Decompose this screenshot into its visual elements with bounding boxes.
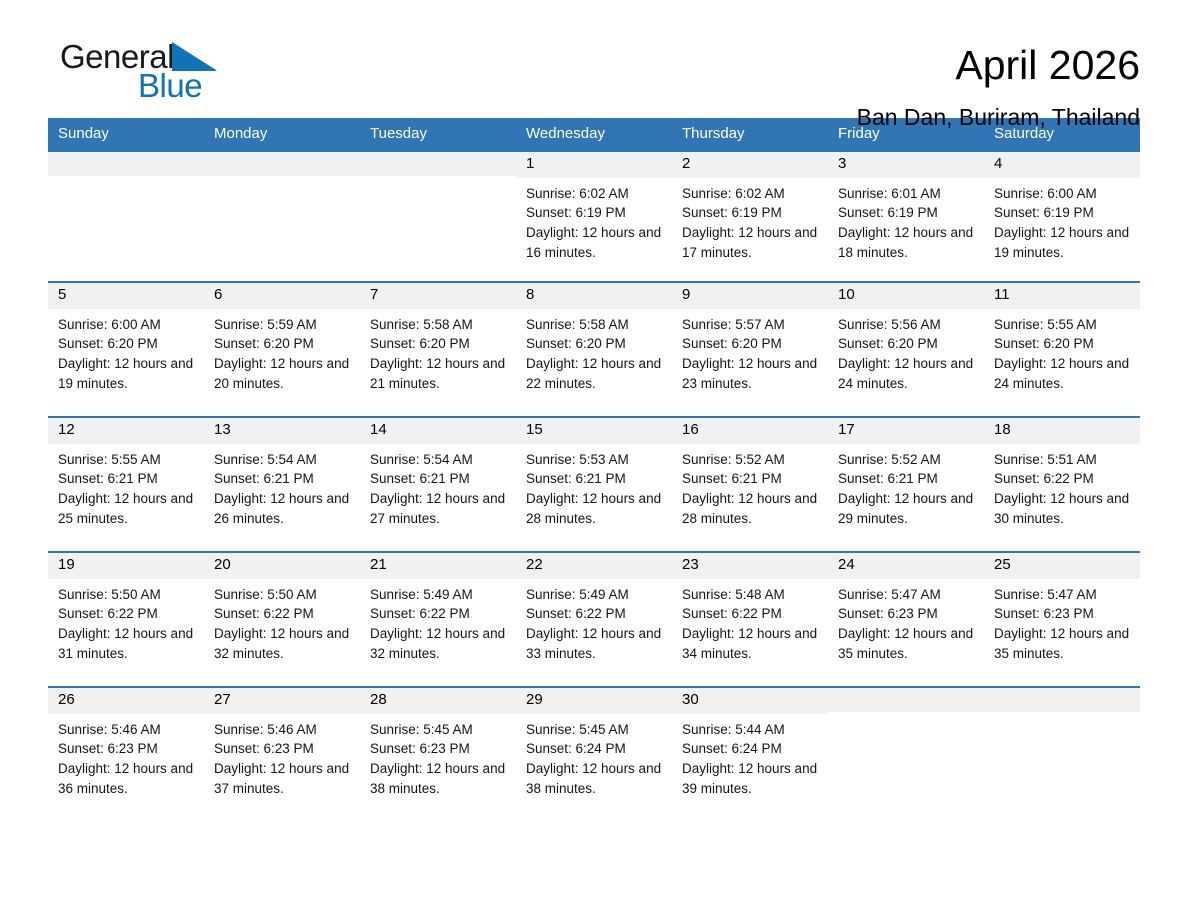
calendar-day-cell-empty: [828, 687, 984, 822]
sunrise-text: Sunrise: 5:46 AM: [214, 720, 352, 740]
day-number: 18: [984, 418, 1140, 444]
sunset-text: Sunset: 6:20 PM: [214, 334, 352, 354]
day-cell-inner: [984, 688, 1140, 822]
title-block: April 2026 Ban Dan, Buriram, Thailand: [857, 40, 1140, 130]
page-title: April 2026: [857, 44, 1140, 87]
daylight-text: Daylight: 12 hours and 36 minutes.: [58, 759, 196, 799]
calendar-day-cell[interactable]: 25Sunrise: 5:47 AMSunset: 6:23 PMDayligh…: [984, 552, 1140, 687]
daylight-text: Daylight: 12 hours and 35 minutes.: [994, 624, 1132, 664]
day-number: 15: [516, 418, 672, 444]
day-cell-inner: 12Sunrise: 5:55 AMSunset: 6:21 PMDayligh…: [48, 418, 204, 551]
day-number: 28: [360, 688, 516, 714]
day-cell-inner: 1Sunrise: 6:02 AMSunset: 6:19 PMDaylight…: [516, 152, 672, 281]
day-details: Sunrise: 5:44 AMSunset: 6:24 PMDaylight:…: [672, 714, 828, 799]
day-number: 12: [48, 418, 204, 444]
calendar-day-cell[interactable]: 26Sunrise: 5:46 AMSunset: 6:23 PMDayligh…: [48, 687, 204, 822]
calendar-day-cell-empty: [984, 687, 1140, 822]
day-cell-inner: 16Sunrise: 5:52 AMSunset: 6:21 PMDayligh…: [672, 418, 828, 551]
day-number: 3: [828, 152, 984, 178]
day-number: 7: [360, 283, 516, 309]
day-details: Sunrise: 6:01 AMSunset: 6:19 PMDaylight:…: [828, 178, 984, 263]
calendar-day-cell[interactable]: 21Sunrise: 5:49 AMSunset: 6:22 PMDayligh…: [360, 552, 516, 687]
sunrise-text: Sunrise: 5:57 AM: [682, 315, 820, 335]
calendar-day-cell[interactable]: 19Sunrise: 5:50 AMSunset: 6:22 PMDayligh…: [48, 552, 204, 687]
day-cell-inner: 27Sunrise: 5:46 AMSunset: 6:23 PMDayligh…: [204, 688, 360, 822]
weekday-header-sunday: Sunday: [48, 118, 204, 151]
day-number: 10: [828, 283, 984, 309]
calendar-day-cell[interactable]: 15Sunrise: 5:53 AMSunset: 6:21 PMDayligh…: [516, 417, 672, 552]
sunrise-text: Sunrise: 5:55 AM: [58, 450, 196, 470]
calendar-day-cell[interactable]: 9Sunrise: 5:57 AMSunset: 6:20 PMDaylight…: [672, 282, 828, 417]
sunset-text: Sunset: 6:22 PM: [682, 604, 820, 624]
calendar-week-row: 12Sunrise: 5:55 AMSunset: 6:21 PMDayligh…: [48, 417, 1140, 552]
day-cell-inner: 21Sunrise: 5:49 AMSunset: 6:22 PMDayligh…: [360, 553, 516, 686]
day-cell-inner: [360, 152, 516, 281]
day-number: 14: [360, 418, 516, 444]
calendar-day-cell[interactable]: 16Sunrise: 5:52 AMSunset: 6:21 PMDayligh…: [672, 417, 828, 552]
sunset-text: Sunset: 6:23 PM: [838, 604, 976, 624]
calendar-day-cell[interactable]: 27Sunrise: 5:46 AMSunset: 6:23 PMDayligh…: [204, 687, 360, 822]
day-details: Sunrise: 6:02 AMSunset: 6:19 PMDaylight:…: [672, 178, 828, 263]
sunset-text: Sunset: 6:21 PM: [58, 469, 196, 489]
sunset-text: Sunset: 6:21 PM: [682, 469, 820, 489]
day-cell-inner: 14Sunrise: 5:54 AMSunset: 6:21 PMDayligh…: [360, 418, 516, 551]
day-number: [984, 688, 1140, 712]
calendar-day-cell[interactable]: 18Sunrise: 5:51 AMSunset: 6:22 PMDayligh…: [984, 417, 1140, 552]
day-cell-inner: 5Sunrise: 6:00 AMSunset: 6:20 PMDaylight…: [48, 283, 204, 416]
daylight-text: Daylight: 12 hours and 18 minutes.: [838, 223, 976, 263]
daylight-text: Daylight: 12 hours and 16 minutes.: [526, 223, 664, 263]
sunset-text: Sunset: 6:22 PM: [214, 604, 352, 624]
daylight-text: Daylight: 12 hours and 26 minutes.: [214, 489, 352, 529]
calendar-week-row: 26Sunrise: 5:46 AMSunset: 6:23 PMDayligh…: [48, 687, 1140, 822]
day-cell-inner: 29Sunrise: 5:45 AMSunset: 6:24 PMDayligh…: [516, 688, 672, 822]
day-details: Sunrise: 5:53 AMSunset: 6:21 PMDaylight:…: [516, 444, 672, 529]
daylight-text: Daylight: 12 hours and 39 minutes.: [682, 759, 820, 799]
day-details: Sunrise: 5:50 AMSunset: 6:22 PMDaylight:…: [48, 579, 204, 664]
calendar-day-cell[interactable]: 30Sunrise: 5:44 AMSunset: 6:24 PMDayligh…: [672, 687, 828, 822]
day-number: 29: [516, 688, 672, 714]
day-number: 25: [984, 553, 1140, 579]
day-cell-inner: 6Sunrise: 5:59 AMSunset: 6:20 PMDaylight…: [204, 283, 360, 416]
calendar-day-cell[interactable]: 24Sunrise: 5:47 AMSunset: 6:23 PMDayligh…: [828, 552, 984, 687]
daylight-text: Daylight: 12 hours and 21 minutes.: [370, 354, 508, 394]
sunrise-text: Sunrise: 6:02 AM: [526, 184, 664, 204]
daylight-text: Daylight: 12 hours and 37 minutes.: [214, 759, 352, 799]
day-cell-inner: [828, 688, 984, 822]
sunrise-text: Sunrise: 5:44 AM: [682, 720, 820, 740]
sunset-text: Sunset: 6:23 PM: [214, 739, 352, 759]
daylight-text: Daylight: 12 hours and 20 minutes.: [214, 354, 352, 394]
sunset-text: Sunset: 6:22 PM: [58, 604, 196, 624]
day-details: Sunrise: 5:52 AMSunset: 6:21 PMDaylight:…: [672, 444, 828, 529]
calendar-day-cell[interactable]: 6Sunrise: 5:59 AMSunset: 6:20 PMDaylight…: [204, 282, 360, 417]
day-number: 19: [48, 553, 204, 579]
sunrise-text: Sunrise: 5:54 AM: [370, 450, 508, 470]
calendar-day-cell[interactable]: 10Sunrise: 5:56 AMSunset: 6:20 PMDayligh…: [828, 282, 984, 417]
sunset-text: Sunset: 6:19 PM: [838, 203, 976, 223]
daylight-text: Daylight: 12 hours and 24 minutes.: [838, 354, 976, 394]
day-details: Sunrise: 5:57 AMSunset: 6:20 PMDaylight:…: [672, 309, 828, 394]
calendar-day-cell[interactable]: 8Sunrise: 5:58 AMSunset: 6:20 PMDaylight…: [516, 282, 672, 417]
calendar-week-row: 5Sunrise: 6:00 AMSunset: 6:20 PMDaylight…: [48, 282, 1140, 417]
sunrise-text: Sunrise: 5:52 AM: [682, 450, 820, 470]
daylight-text: Daylight: 12 hours and 29 minutes.: [838, 489, 976, 529]
day-number: 2: [672, 152, 828, 178]
day-details: Sunrise: 6:00 AMSunset: 6:19 PMDaylight:…: [984, 178, 1140, 263]
sunrise-text: Sunrise: 6:00 AM: [994, 184, 1132, 204]
calendar-day-cell[interactable]: 2Sunrise: 6:02 AMSunset: 6:19 PMDaylight…: [672, 151, 828, 282]
day-cell-inner: 19Sunrise: 5:50 AMSunset: 6:22 PMDayligh…: [48, 553, 204, 686]
day-cell-inner: 10Sunrise: 5:56 AMSunset: 6:20 PMDayligh…: [828, 283, 984, 416]
day-number: 24: [828, 553, 984, 579]
sunset-text: Sunset: 6:21 PM: [370, 469, 508, 489]
daylight-text: Daylight: 12 hours and 17 minutes.: [682, 223, 820, 263]
daylight-text: Daylight: 12 hours and 27 minutes.: [370, 489, 508, 529]
day-number: 13: [204, 418, 360, 444]
day-details: Sunrise: 5:51 AMSunset: 6:22 PMDaylight:…: [984, 444, 1140, 529]
daylight-text: Daylight: 12 hours and 22 minutes.: [526, 354, 664, 394]
sunrise-text: Sunrise: 5:47 AM: [994, 585, 1132, 605]
page-masthead: General Blue April 2026 Ban Dan, Buriram…: [48, 0, 1140, 118]
sunrise-text: Sunrise: 5:46 AM: [58, 720, 196, 740]
day-cell-inner: 18Sunrise: 5:51 AMSunset: 6:22 PMDayligh…: [984, 418, 1140, 551]
sunset-text: Sunset: 6:23 PM: [58, 739, 196, 759]
day-cell-inner: 24Sunrise: 5:47 AMSunset: 6:23 PMDayligh…: [828, 553, 984, 686]
calendar-day-cell[interactable]: 12Sunrise: 5:55 AMSunset: 6:21 PMDayligh…: [48, 417, 204, 552]
sunset-text: Sunset: 6:21 PM: [526, 469, 664, 489]
day-details: Sunrise: 5:49 AMSunset: 6:22 PMDaylight:…: [516, 579, 672, 664]
sunrise-text: Sunrise: 5:50 AM: [214, 585, 352, 605]
calendar-day-cell[interactable]: 5Sunrise: 6:00 AMSunset: 6:20 PMDaylight…: [48, 282, 204, 417]
sunset-text: Sunset: 6:23 PM: [994, 604, 1132, 624]
day-details: Sunrise: 5:46 AMSunset: 6:23 PMDaylight:…: [204, 714, 360, 799]
sunset-text: Sunset: 6:22 PM: [994, 469, 1132, 489]
sunrise-text: Sunrise: 6:00 AM: [58, 315, 196, 335]
day-cell-inner: 7Sunrise: 5:58 AMSunset: 6:20 PMDaylight…: [360, 283, 516, 416]
sunset-text: Sunset: 6:21 PM: [214, 469, 352, 489]
calendar-day-cell[interactable]: 3Sunrise: 6:01 AMSunset: 6:19 PMDaylight…: [828, 151, 984, 282]
day-details: Sunrise: 5:46 AMSunset: 6:23 PMDaylight:…: [48, 714, 204, 799]
day-number: 23: [672, 553, 828, 579]
sunrise-text: Sunrise: 5:50 AM: [58, 585, 196, 605]
day-cell-inner: 13Sunrise: 5:54 AMSunset: 6:21 PMDayligh…: [204, 418, 360, 551]
day-number: 22: [516, 553, 672, 579]
day-number: 17: [828, 418, 984, 444]
day-cell-inner: 28Sunrise: 5:45 AMSunset: 6:23 PMDayligh…: [360, 688, 516, 822]
daylight-text: Daylight: 12 hours and 30 minutes.: [994, 489, 1132, 529]
sunset-text: Sunset: 6:19 PM: [526, 203, 664, 223]
day-number: 20: [204, 553, 360, 579]
weekday-header-tuesday: Tuesday: [360, 118, 516, 151]
day-number: 11: [984, 283, 1140, 309]
sunrise-text: Sunrise: 5:56 AM: [838, 315, 976, 335]
calendar-day-cell[interactable]: 7Sunrise: 5:58 AMSunset: 6:20 PMDaylight…: [360, 282, 516, 417]
calendar-day-cell[interactable]: 22Sunrise: 5:49 AMSunset: 6:22 PMDayligh…: [516, 552, 672, 687]
calendar-day-cell[interactable]: 14Sunrise: 5:54 AMSunset: 6:21 PMDayligh…: [360, 417, 516, 552]
day-details: Sunrise: 5:48 AMSunset: 6:22 PMDaylight:…: [672, 579, 828, 664]
sunrise-text: Sunrise: 5:55 AM: [994, 315, 1132, 335]
day-cell-inner: [48, 152, 204, 281]
day-cell-inner: 23Sunrise: 5:48 AMSunset: 6:22 PMDayligh…: [672, 553, 828, 686]
sunrise-text: Sunrise: 5:45 AM: [526, 720, 664, 740]
calendar-day-cell[interactable]: 29Sunrise: 5:45 AMSunset: 6:24 PMDayligh…: [516, 687, 672, 822]
sunrise-text: Sunrise: 5:58 AM: [526, 315, 664, 335]
sunset-text: Sunset: 6:19 PM: [994, 203, 1132, 223]
day-cell-inner: 3Sunrise: 6:01 AMSunset: 6:19 PMDaylight…: [828, 152, 984, 281]
day-number: 30: [672, 688, 828, 714]
calendar-day-cell[interactable]: 17Sunrise: 5:52 AMSunset: 6:21 PMDayligh…: [828, 417, 984, 552]
sunrise-text: Sunrise: 5:54 AM: [214, 450, 352, 470]
daylight-text: Daylight: 12 hours and 28 minutes.: [682, 489, 820, 529]
calendar-day-cell-empty: [360, 151, 516, 282]
day-details: Sunrise: 5:49 AMSunset: 6:22 PMDaylight:…: [360, 579, 516, 664]
day-number: 5: [48, 283, 204, 309]
day-details: Sunrise: 5:50 AMSunset: 6:22 PMDaylight:…: [204, 579, 360, 664]
day-details: Sunrise: 5:59 AMSunset: 6:20 PMDaylight:…: [204, 309, 360, 394]
day-number: [204, 152, 360, 176]
logo-text-blue: Blue: [138, 69, 248, 102]
day-cell-inner: 2Sunrise: 6:02 AMSunset: 6:19 PMDaylight…: [672, 152, 828, 281]
day-details: Sunrise: 5:52 AMSunset: 6:21 PMDaylight:…: [828, 444, 984, 529]
day-number: 6: [204, 283, 360, 309]
sunrise-text: Sunrise: 6:02 AM: [682, 184, 820, 204]
sunset-text: Sunset: 6:20 PM: [682, 334, 820, 354]
sunrise-text: Sunrise: 5:49 AM: [526, 585, 664, 605]
daylight-text: Daylight: 12 hours and 19 minutes.: [994, 223, 1132, 263]
calendar-day-cell[interactable]: 11Sunrise: 5:55 AMSunset: 6:20 PMDayligh…: [984, 282, 1140, 417]
sunrise-text: Sunrise: 5:51 AM: [994, 450, 1132, 470]
calendar-day-cell[interactable]: 20Sunrise: 5:50 AMSunset: 6:22 PMDayligh…: [204, 552, 360, 687]
day-details: Sunrise: 5:45 AMSunset: 6:24 PMDaylight:…: [516, 714, 672, 799]
sunset-text: Sunset: 6:19 PM: [682, 203, 820, 223]
sunset-text: Sunset: 6:20 PM: [370, 334, 508, 354]
calendar-week-row: 19Sunrise: 5:50 AMSunset: 6:22 PMDayligh…: [48, 552, 1140, 687]
day-details: Sunrise: 5:54 AMSunset: 6:21 PMDaylight:…: [360, 444, 516, 529]
sunset-text: Sunset: 6:20 PM: [838, 334, 976, 354]
day-number: [360, 152, 516, 176]
sunset-text: Sunset: 6:24 PM: [682, 739, 820, 759]
month-calendar-table: SundayMondayTuesdayWednesdayThursdayFrid…: [48, 118, 1140, 822]
sunset-text: Sunset: 6:23 PM: [370, 739, 508, 759]
daylight-text: Daylight: 12 hours and 32 minutes.: [370, 624, 508, 664]
sunset-text: Sunset: 6:22 PM: [526, 604, 664, 624]
daylight-text: Daylight: 12 hours and 19 minutes.: [58, 354, 196, 394]
daylight-text: Daylight: 12 hours and 28 minutes.: [526, 489, 664, 529]
sunrise-text: Sunrise: 5:45 AM: [370, 720, 508, 740]
generalblue-logo[interactable]: General Blue: [48, 40, 248, 112]
daylight-text: Daylight: 12 hours and 38 minutes.: [526, 759, 664, 799]
day-cell-inner: 25Sunrise: 5:47 AMSunset: 6:23 PMDayligh…: [984, 553, 1140, 686]
sunrise-text: Sunrise: 5:47 AM: [838, 585, 976, 605]
calendar-day-cell[interactable]: 23Sunrise: 5:48 AMSunset: 6:22 PMDayligh…: [672, 552, 828, 687]
day-cell-inner: [204, 152, 360, 281]
calendar-day-cell-empty: [204, 151, 360, 282]
day-number: 8: [516, 283, 672, 309]
day-number: 16: [672, 418, 828, 444]
day-cell-inner: 9Sunrise: 5:57 AMSunset: 6:20 PMDaylight…: [672, 283, 828, 416]
calendar-day-cell[interactable]: 13Sunrise: 5:54 AMSunset: 6:21 PMDayligh…: [204, 417, 360, 552]
daylight-text: Daylight: 12 hours and 33 minutes.: [526, 624, 664, 664]
day-number: 26: [48, 688, 204, 714]
day-cell-inner: 11Sunrise: 5:55 AMSunset: 6:20 PMDayligh…: [984, 283, 1140, 416]
day-number: 21: [360, 553, 516, 579]
day-cell-inner: 26Sunrise: 5:46 AMSunset: 6:23 PMDayligh…: [48, 688, 204, 822]
sunset-text: Sunset: 6:21 PM: [838, 469, 976, 489]
day-details: Sunrise: 5:55 AMSunset: 6:20 PMDaylight:…: [984, 309, 1140, 394]
calendar-page: General Blue April 2026 Ban Dan, Buriram…: [0, 0, 1188, 918]
day-number: 1: [516, 152, 672, 178]
day-cell-inner: 22Sunrise: 5:49 AMSunset: 6:22 PMDayligh…: [516, 553, 672, 686]
day-details: Sunrise: 5:54 AMSunset: 6:21 PMDaylight:…: [204, 444, 360, 529]
weekday-header-thursday: Thursday: [672, 118, 828, 151]
sunrise-text: Sunrise: 5:49 AM: [370, 585, 508, 605]
sunset-text: Sunset: 6:22 PM: [370, 604, 508, 624]
sunrise-text: Sunrise: 5:58 AM: [370, 315, 508, 335]
day-details: Sunrise: 6:00 AMSunset: 6:20 PMDaylight:…: [48, 309, 204, 394]
daylight-text: Daylight: 12 hours and 34 minutes.: [682, 624, 820, 664]
daylight-text: Daylight: 12 hours and 24 minutes.: [994, 354, 1132, 394]
day-number: [828, 688, 984, 712]
day-number: [48, 152, 204, 176]
weekday-header-wednesday: Wednesday: [516, 118, 672, 151]
day-details: Sunrise: 6:02 AMSunset: 6:19 PMDaylight:…: [516, 178, 672, 263]
calendar-day-cell[interactable]: 1Sunrise: 6:02 AMSunset: 6:19 PMDaylight…: [516, 151, 672, 282]
day-number: 27: [204, 688, 360, 714]
day-details: Sunrise: 5:55 AMSunset: 6:21 PMDaylight:…: [48, 444, 204, 529]
sunrise-text: Sunrise: 6:01 AM: [838, 184, 976, 204]
day-details: Sunrise: 5:58 AMSunset: 6:20 PMDaylight:…: [516, 309, 672, 394]
day-details: Sunrise: 5:45 AMSunset: 6:23 PMDaylight:…: [360, 714, 516, 799]
sunrise-text: Sunrise: 5:59 AM: [214, 315, 352, 335]
weekday-header-monday: Monday: [204, 118, 360, 151]
sunrise-text: Sunrise: 5:52 AM: [838, 450, 976, 470]
day-number: 4: [984, 152, 1140, 178]
daylight-text: Daylight: 12 hours and 35 minutes.: [838, 624, 976, 664]
day-cell-inner: 20Sunrise: 5:50 AMSunset: 6:22 PMDayligh…: [204, 553, 360, 686]
daylight-text: Daylight: 12 hours and 38 minutes.: [370, 759, 508, 799]
sunrise-text: Sunrise: 5:48 AM: [682, 585, 820, 605]
day-number: 9: [672, 283, 828, 309]
calendar-week-row: 1Sunrise: 6:02 AMSunset: 6:19 PMDaylight…: [48, 151, 1140, 282]
day-details: Sunrise: 5:47 AMSunset: 6:23 PMDaylight:…: [984, 579, 1140, 664]
calendar-day-cell-empty: [48, 151, 204, 282]
day-cell-inner: 8Sunrise: 5:58 AMSunset: 6:20 PMDaylight…: [516, 283, 672, 416]
calendar-day-cell[interactable]: 4Sunrise: 6:00 AMSunset: 6:19 PMDaylight…: [984, 151, 1140, 282]
day-details: Sunrise: 5:47 AMSunset: 6:23 PMDaylight:…: [828, 579, 984, 664]
day-details: Sunrise: 5:56 AMSunset: 6:20 PMDaylight:…: [828, 309, 984, 394]
day-cell-inner: 4Sunrise: 6:00 AMSunset: 6:19 PMDaylight…: [984, 152, 1140, 281]
sunrise-text: Sunrise: 5:53 AM: [526, 450, 664, 470]
sunset-text: Sunset: 6:20 PM: [58, 334, 196, 354]
sunset-text: Sunset: 6:20 PM: [526, 334, 664, 354]
daylight-text: Daylight: 12 hours and 23 minutes.: [682, 354, 820, 394]
day-cell-inner: 15Sunrise: 5:53 AMSunset: 6:21 PMDayligh…: [516, 418, 672, 551]
daylight-text: Daylight: 12 hours and 25 minutes.: [58, 489, 196, 529]
sunset-text: Sunset: 6:24 PM: [526, 739, 664, 759]
daylight-text: Daylight: 12 hours and 32 minutes.: [214, 624, 352, 664]
day-cell-inner: 17Sunrise: 5:52 AMSunset: 6:21 PMDayligh…: [828, 418, 984, 551]
sunset-text: Sunset: 6:20 PM: [994, 334, 1132, 354]
daylight-text: Daylight: 12 hours and 31 minutes.: [58, 624, 196, 664]
calendar-day-cell[interactable]: 28Sunrise: 5:45 AMSunset: 6:23 PMDayligh…: [360, 687, 516, 822]
day-cell-inner: 30Sunrise: 5:44 AMSunset: 6:24 PMDayligh…: [672, 688, 828, 822]
day-details: Sunrise: 5:58 AMSunset: 6:20 PMDaylight:…: [360, 309, 516, 394]
